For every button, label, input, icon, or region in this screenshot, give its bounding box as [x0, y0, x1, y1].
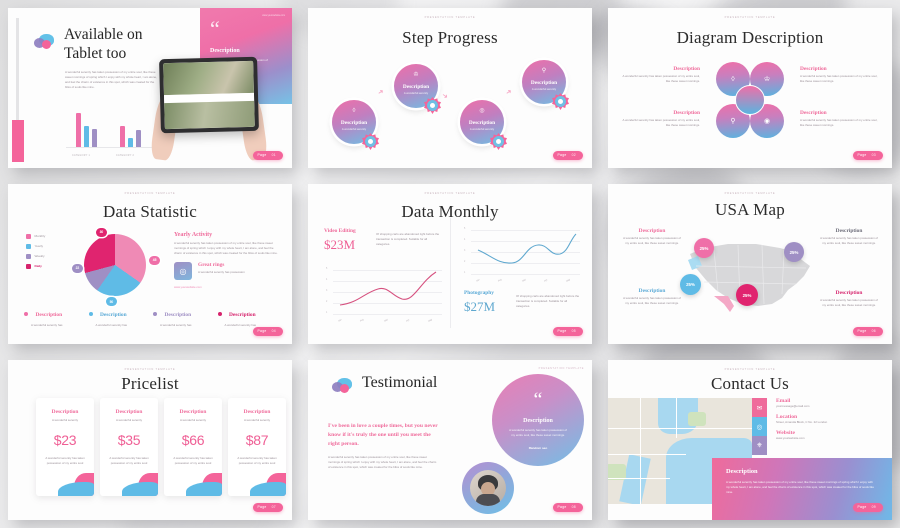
card-subtitle: A wonderful serenity — [100, 418, 158, 423]
testimonial-quote: I've been in love a couple times, but yo… — [328, 422, 438, 450]
page-title: Diagram Description — [608, 28, 892, 48]
line-chart-photography: 54 32 1 Jan Feb Mar Apr May — [464, 228, 580, 276]
legend-swatch — [26, 234, 31, 239]
item-body: A wonderful serenity has taken possessio… — [800, 118, 878, 128]
price-card-3[interactable]: Description A wonderful serenity $66 A w… — [164, 398, 222, 496]
eyebrow-text: PRESENTATION TEMPLATE — [608, 16, 892, 19]
item-body: A wonderful serenity has — [153, 323, 212, 328]
page-title: Pricelist — [8, 374, 292, 394]
section-heading: Yearly Activity — [174, 232, 278, 238]
testimonial-bubble: “ Description A wonderful serenity has t… — [492, 374, 584, 466]
step-heading: Description — [531, 80, 557, 86]
item-heading: Description — [622, 66, 700, 72]
x-tick-label: CATEGORY 1 — [72, 154, 90, 157]
card-wave-decoration — [180, 470, 222, 496]
page-badge-label: Page — [558, 505, 567, 509]
card-price: $23 — [36, 432, 94, 448]
card-wave-decoration — [52, 470, 94, 496]
item-heading: Description — [100, 312, 127, 318]
eyebrow-text: PRESENTATION TEMPLATE — [608, 368, 892, 371]
panel-micro-text: www.yourwebsite.com — [262, 15, 285, 17]
tablet-device — [159, 57, 259, 134]
accent-bar — [16, 18, 19, 136]
tablet-screen — [163, 61, 255, 129]
bar — [76, 113, 81, 147]
item-heading: Description — [229, 312, 256, 318]
bottom-item: Description A wonderful serenity has — [89, 303, 148, 328]
pie-body — [84, 234, 146, 296]
map-item-3: Description A wonderful serenity has tak… — [622, 288, 682, 306]
marker-label: 25% — [686, 282, 695, 287]
page-badge[interactable]: Page 06 — [853, 327, 884, 336]
item-body: A wonderful serenity has — [89, 323, 148, 328]
eyebrow-text: PRESENTATION TEMPLATE — [308, 16, 592, 19]
eyebrow-text: PRESENTATION TEMPLATE — [8, 368, 292, 371]
diagram-graphic: droplet-icon◊ ♔ ⚲ ◉ — [712, 62, 788, 138]
card-heading: Description — [228, 409, 286, 415]
contact-value-website[interactable]: www.yourwebsite.com — [776, 436, 886, 441]
contact-details: Email yourmessage@email.com Location Str… — [776, 398, 886, 441]
card-heading: Description — [36, 409, 94, 415]
item-heading: Description — [818, 290, 880, 296]
slide-data-statistic[interactable]: PRESENTATION TEMPLATE Data Statistic Mon… — [8, 184, 292, 344]
card-heading: Description — [164, 409, 222, 415]
item-heading: Description — [800, 66, 878, 72]
slide-step-progress[interactable]: PRESENTATION TEMPLATE Step Progress ◊ De… — [308, 8, 592, 168]
page-badge-label: Page — [858, 153, 867, 157]
contact-icon-column: ✉ ◎ ⎈ — [752, 398, 767, 455]
panel-heading: Description — [726, 468, 758, 475]
droplet-icon: ◊ — [353, 108, 356, 114]
gear-icon — [362, 133, 379, 150]
legend-label: Daily — [35, 264, 42, 268]
page-badge-label: Page — [558, 329, 567, 333]
diagram-item-3: Description A wonderful serenity has tak… — [622, 110, 700, 128]
page-badge-label: Page — [558, 153, 567, 157]
brand-logo-icon — [332, 378, 352, 394]
slide-cell: PRESENTATION TEMPLATE USA Map 25% 2 — [600, 176, 900, 352]
map-item-1: Description A wonderful serenity has tak… — [622, 228, 682, 246]
legend-label: Monthly — [35, 234, 46, 238]
slide-contact-us[interactable]: PRESENTATION TEMPLATE Contact Us ✉ — [608, 360, 892, 520]
diagram-item-4: Description A wonderful serenity has tak… — [800, 110, 878, 128]
price-card-1[interactable]: Description A wonderful serenity $23 A w… — [36, 398, 94, 496]
website-icon: ⎈ — [752, 436, 767, 455]
bar — [128, 138, 133, 147]
item-body: A wonderful serenity has taken possessio… — [818, 236, 880, 246]
pie-data-label: 45 — [149, 256, 160, 265]
diagram-item-1: Description A wonderful serenity has tak… — [622, 66, 700, 84]
divider — [450, 218, 451, 328]
stat-heading: Video Editing — [324, 228, 368, 234]
legend-item[interactable]: Daily — [26, 264, 45, 269]
step-heading: Description — [341, 120, 367, 126]
marker-label: 25% — [743, 293, 752, 298]
page-badge[interactable]: Page 09 — [853, 503, 884, 512]
page-badge-number: 06 — [872, 329, 876, 333]
website-link[interactable]: www.yourwebsite.com — [174, 285, 278, 289]
right-column: Yearly Activity A wonderful serenity has… — [174, 232, 278, 289]
screen-image-bottom — [164, 101, 255, 129]
card-subtitle: A wonderful serenity — [228, 418, 286, 423]
step-body: A wonderful serenity — [404, 92, 428, 95]
card-body: A wonderful serenity has taken possessio… — [228, 456, 286, 466]
slide-cell: PRESENTATION TEMPLATE Pricelist Descript… — [0, 352, 300, 528]
avatar — [470, 470, 506, 506]
testimonial-avatar-bubble — [462, 462, 514, 514]
page-badge-label: Page — [258, 153, 267, 157]
page-badge-number: 05 — [572, 329, 576, 333]
item-body: A wonderful serenity has taken possessio… — [622, 74, 700, 84]
page-badge-label: Page — [258, 505, 267, 509]
step-heading: Description — [403, 84, 429, 90]
gear-icon — [424, 97, 441, 114]
highlight-card[interactable]: ◎ Great rings A wonderful serenity has p… — [174, 262, 278, 280]
chart-legend: Monthly Yearly Weekly Daily — [26, 234, 45, 274]
email-icon: ✉ — [752, 398, 767, 417]
page-title: Step Progress — [308, 28, 592, 48]
card-heading: Great rings — [198, 262, 245, 268]
ring-icon: ◎ — [174, 262, 192, 280]
marker-label: 25% — [790, 250, 799, 255]
item-body: A wonderful serenity has — [24, 323, 83, 328]
page-badge[interactable]: Page 05 — [553, 327, 584, 336]
page-badge-number: 03 — [872, 153, 876, 157]
page-badge[interactable]: Page 01 — [253, 151, 284, 160]
item-heading: Description — [622, 228, 682, 234]
bubble-body: A wonderful serenity has taken possessio… — [508, 428, 568, 438]
eyebrow-text: PRESENTATION TEMPLATE — [308, 192, 592, 195]
page-title: Testimonial — [362, 374, 437, 392]
marker-label: 25% — [700, 246, 709, 251]
slide-cell: PRESENTATION TEMPLATE Contact Us ✉ — [600, 352, 900, 528]
page-badge[interactable]: Page 07 — [253, 503, 284, 512]
eyebrow-text: PRESENTATION TEMPLATE — [608, 192, 892, 195]
step-body: A wonderful serenity — [342, 128, 366, 131]
item-body: A wonderful serenity has taken possessio… — [622, 296, 682, 306]
bar — [136, 130, 141, 147]
card-price: $35 — [100, 432, 158, 448]
left-stat-body: Of shopping carts are abandoned right be… — [376, 232, 442, 247]
pie-chart: 30 45 22 50 — [80, 230, 152, 302]
right-stat-body: Of shopping carts are abandoned right be… — [516, 294, 580, 309]
page-badge-label: Page — [858, 505, 867, 509]
item-heading: Description — [164, 312, 191, 318]
legend-label: Weekly — [35, 254, 45, 258]
body-text: A wonderful serenity has taken possessio… — [65, 70, 157, 90]
line-chart-video-editing: 54 32 1 Jan Feb Mar Apr May — [326, 268, 442, 316]
accent-bar-pink — [12, 120, 24, 162]
contact-value-email[interactable]: yourmessage@email.com — [776, 404, 886, 409]
bottom-descriptions: Description A wonderful serenity has Des… — [24, 303, 276, 328]
gear-icon — [490, 133, 507, 150]
title-line-1: Available on — [64, 26, 204, 45]
item-heading: Description — [800, 110, 878, 116]
item-heading: Description — [35, 312, 62, 318]
stat-value: $27M — [464, 299, 510, 315]
x-tick-label: Feb — [498, 278, 503, 283]
slide-usa-map[interactable]: PRESENTATION TEMPLATE USA Map 25% 2 — [608, 184, 892, 344]
x-tick-label: May — [428, 318, 433, 323]
x-tick-label: Apr — [406, 318, 411, 322]
x-tick-label: May — [566, 278, 571, 283]
price-card-4[interactable]: Description A wonderful serenity $87 A w… — [228, 398, 286, 496]
card-body: A wonderful serenity has possession — [198, 270, 245, 275]
slide-cell: PRESENTATION TEMPLATE Testimonial I've b… — [300, 352, 600, 528]
quote-icon: “ — [210, 18, 220, 40]
slide-data-monthly[interactable]: PRESENTATION TEMPLATE Data Monthly Video… — [308, 184, 592, 344]
page-title: USA Map — [608, 200, 892, 220]
pin-icon: ◎ — [479, 108, 484, 114]
bubble-author: Random seo — [492, 446, 584, 450]
map-item-2: Description A wonderful serenity has tak… — [818, 228, 880, 246]
page-title: Data Statistic — [8, 202, 292, 222]
bottom-item: Description A wonderful serenity has — [153, 303, 212, 328]
x-tick-label: Jan — [476, 278, 481, 282]
slide-cell: PRESENTATION TEMPLATE Data Monthly Video… — [300, 176, 600, 352]
slide-available-on-tablet[interactable]: Available on Tablet too A wonderful sere… — [8, 8, 292, 168]
map-marker-3[interactable]: 25% — [680, 274, 701, 295]
pie-data-label: 22 — [72, 264, 83, 273]
map-item-4: Description A wonderful serenity has tak… — [818, 290, 880, 308]
card-price: $87 — [228, 432, 286, 448]
item-heading: Description — [818, 228, 880, 234]
testimonial-body: A wonderful serenity has taken possessio… — [328, 455, 438, 470]
card-heading: Description — [100, 409, 158, 415]
legend-item[interactable]: Monthly — [26, 234, 45, 239]
panel-body: A wonderful serenity has taken possessio… — [726, 480, 876, 496]
eyebrow-text: PRESENTATION TEMPLATE — [8, 192, 292, 195]
page-badge[interactable]: Page 03 — [853, 151, 884, 160]
page-badge-number: 01 — [272, 153, 276, 157]
x-tick-label: Jan — [338, 318, 343, 322]
bar-chart: CATEGORY 1 CATEGORY 2 — [66, 108, 162, 158]
step-heading: Description — [469, 120, 495, 126]
item-body: A wonderful serenity has taken possessio… — [622, 118, 700, 128]
item-heading: Description — [622, 110, 700, 116]
testimonial-quote-block: I've been in love a couple times, but yo… — [328, 422, 438, 470]
card-subtitle: A wonderful serenity — [36, 418, 94, 423]
quote-icon: “ — [534, 390, 543, 410]
pie-data-label: 30 — [96, 228, 107, 237]
crown-icon: ♔ — [413, 72, 418, 78]
diagram-item-2: Description A wonderful serenity has tak… — [800, 66, 878, 84]
item-heading: Description — [622, 288, 682, 294]
page-badge-label: Page — [258, 329, 267, 333]
x-tick-label: Mar — [384, 318, 389, 323]
step-body: A wonderful serenity — [470, 128, 494, 131]
page-badge-label: Page — [858, 329, 867, 333]
slide-pricelist[interactable]: PRESENTATION TEMPLATE Pricelist Descript… — [8, 360, 292, 520]
item-body: A wonderful serenity has taken possessio… — [800, 74, 878, 84]
card-wave-decoration — [116, 470, 158, 496]
x-tick-label: Mar — [522, 278, 527, 283]
stat-heading: Photography — [464, 290, 510, 296]
item-body: A wonderful serenity has taken possessio… — [818, 298, 880, 308]
bar — [84, 126, 89, 147]
legend-item[interactable]: Weekly — [26, 254, 45, 259]
card-subtitle: A wonderful serenity — [164, 418, 222, 423]
page-badge-number: 08 — [572, 505, 576, 509]
page-badge[interactable]: Page 04 — [253, 327, 284, 336]
bubble-heading: Description — [492, 418, 584, 424]
price-card-2[interactable]: Description A wonderful serenity $35 A w… — [100, 398, 158, 496]
map-marker-2[interactable]: 25% — [784, 242, 804, 262]
section-body: A wonderful serenity has taken possessio… — [174, 241, 278, 256]
arrow-icon: ➜ — [376, 87, 385, 97]
left-stat: Video Editing $23M — [324, 228, 368, 253]
diagram-center-ring — [735, 85, 765, 115]
slide-cell: PRESENTATION TEMPLATE Step Progress ◊ De… — [300, 0, 600, 176]
card-wave-decoration — [244, 470, 286, 496]
panel-heading: Description — [210, 48, 240, 54]
stat-value: $23M — [324, 237, 368, 253]
arrow-icon: ➜ — [504, 87, 513, 97]
x-tick-label: Feb — [360, 318, 365, 323]
slide-testimonial[interactable]: PRESENTATION TEMPLATE Testimonial I've b… — [308, 360, 592, 520]
screen-image-top — [163, 61, 254, 96]
legend-label: Yearly — [35, 244, 44, 248]
page-title: Contact Us — [608, 374, 892, 394]
legend-swatch — [26, 244, 31, 249]
page-badge[interactable]: Page 02 — [553, 151, 584, 160]
contact-value-location[interactable]: Street, Amanda Block, C No. 22 London — [776, 420, 886, 425]
map-marker-1[interactable]: 25% — [694, 238, 714, 258]
slide-grid: Available on Tablet too A wonderful sere… — [0, 0, 900, 528]
map-marker-4[interactable]: 25% — [736, 284, 758, 306]
search-icon: ⚲ — [542, 68, 546, 74]
slide-cell: Available on Tablet too A wonderful sere… — [0, 0, 300, 176]
card-price: $66 — [164, 432, 222, 448]
slide-diagram-description[interactable]: PRESENTATION TEMPLATE Diagram Descriptio… — [608, 8, 892, 168]
page-badge-number: 04 — [272, 329, 276, 333]
page-badge[interactable]: Page 08 — [553, 503, 584, 512]
legend-swatch — [26, 264, 31, 269]
brand-logo-icon — [34, 34, 54, 50]
slide-cell: PRESENTATION TEMPLATE Data Statistic Mon… — [0, 176, 300, 352]
card-body: A wonderful serenity has taken possessio… — [164, 456, 222, 466]
gear-icon — [552, 93, 569, 110]
card-body: A wonderful serenity has taken possessio… — [100, 456, 158, 466]
bar — [120, 126, 125, 147]
x-tick-label: CATEGORY 2 — [116, 154, 134, 157]
legend-item[interactable]: Yearly — [26, 244, 45, 249]
bar — [92, 129, 97, 147]
step-body: A wonderful serenity — [532, 88, 556, 91]
eyebrow-text: PRESENTATION TEMPLATE — [539, 367, 584, 370]
right-stat: Photography $27M — [464, 290, 510, 315]
arrow-icon: ➜ — [440, 91, 449, 101]
card-body: A wonderful serenity has taken possessio… — [36, 456, 94, 466]
bottom-item: Description A wonderful serenity has — [24, 303, 83, 328]
slide-cell: PRESENTATION TEMPLATE Diagram Descriptio… — [600, 0, 900, 176]
item-body: A wonderful serenity has taken possessio… — [622, 236, 682, 246]
page-badge-number: 07 — [272, 505, 276, 509]
legend-swatch — [26, 254, 31, 259]
page-badge-number: 09 — [872, 505, 876, 509]
x-tick-label: Apr — [544, 278, 549, 282]
bottom-item: Description A wonderful serenity has — [218, 303, 277, 328]
page-badge-number: 02 — [572, 153, 576, 157]
location-icon: ◎ — [752, 417, 767, 436]
